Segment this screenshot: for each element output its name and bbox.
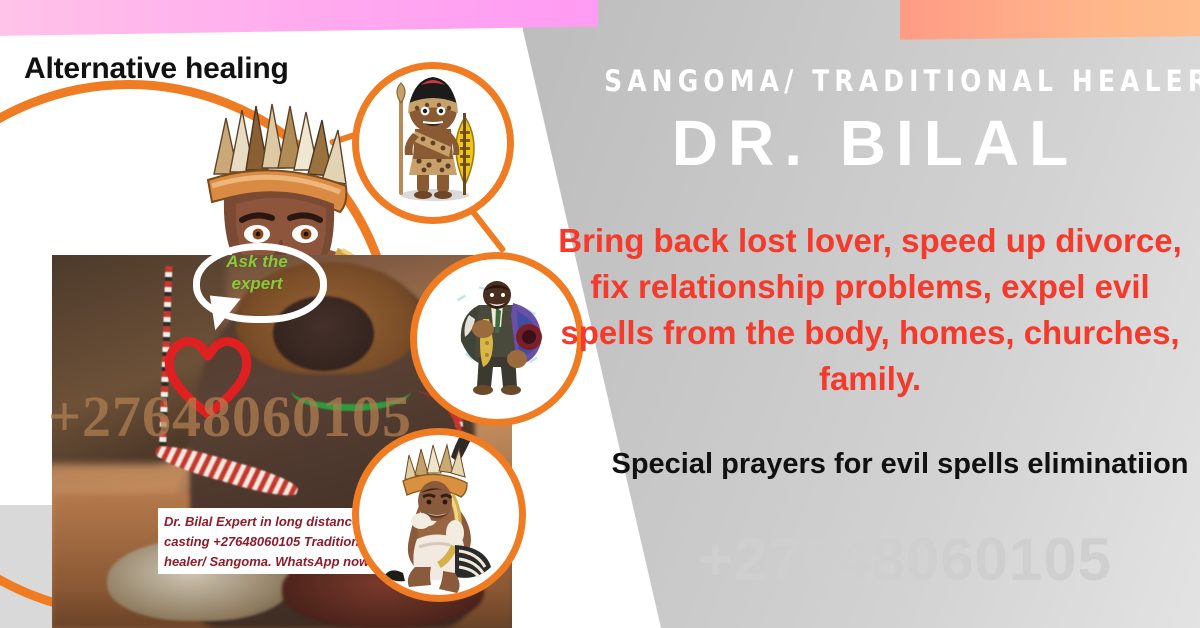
doctor-name-title: DR. BILAL [560,106,1190,180]
kicker-headline: SANGOMA/ TRADITIONAL HEALER [604,64,1146,98]
speech-bubble-text: Ask the expert [202,251,312,295]
circle-kneeling-sangoma [352,428,526,602]
connector-line-2 [468,206,507,253]
photo-watermark-number: +27648060105 [48,383,412,450]
special-prayers-text: Special prayers for evil spells eliminat… [610,443,1190,485]
phone-number-ghost: +27648060105 [610,525,1200,594]
top-pink-band [0,0,598,36]
circle-zulu-warrior-cartoon [352,62,514,224]
services-text: Bring back lost lover, speed up divorce,… [545,218,1195,402]
poster-canvas: Alternative healing [0,0,1200,628]
top-orange-band [900,0,1200,40]
caption-line-3: healer/ Sangoma. WhatsApp now [164,552,394,572]
